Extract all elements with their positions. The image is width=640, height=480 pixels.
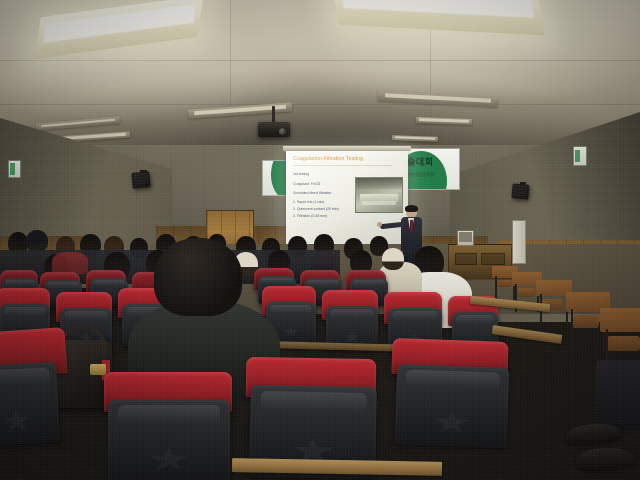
- audience-head-black-cap: [26, 230, 48, 252]
- whiteboard-panel: [512, 220, 526, 264]
- attendee-trousers: [596, 360, 640, 430]
- seat-back: [108, 400, 230, 480]
- audience-head-beige-cap: [382, 248, 404, 270]
- projection-screen: Coagulation-Filtration Testing Jar testi…: [286, 151, 408, 245]
- ceiling-seam: [0, 104, 640, 105]
- presentation-slide: Coagulation-Filtration Testing Jar testi…: [286, 151, 408, 245]
- projector-mount: [272, 106, 275, 123]
- seat-back: [395, 364, 510, 448]
- banner-korean-subtext: 대한환경공학회: [408, 172, 434, 178]
- audience-shoulders: [52, 252, 88, 274]
- lecture-hall-photo: 술대회 대한환경공학회 Coagulation-Filtration Testi…: [0, 0, 640, 480]
- attendee-shoe: [575, 446, 636, 472]
- exit-sign-left: [8, 160, 21, 178]
- wall-speaker-left: [131, 171, 151, 189]
- podium-monitor: [457, 230, 474, 246]
- ceiling-seam: [230, 0, 231, 152]
- slide-title-rule: [293, 165, 392, 166]
- slide-numbered-item: 3. Filtration (0.45 mm): [293, 213, 401, 220]
- banner-korean-text: 술대회: [407, 155, 433, 168]
- seat-back: [0, 362, 60, 446]
- slide-title: Coagulation-Filtration Testing: [293, 157, 401, 163]
- projector: [258, 122, 290, 137]
- wall-speaker-right: [511, 183, 529, 199]
- banner-right: 술대회 대한환경공학회: [404, 148, 460, 190]
- exit-sign-right: [573, 146, 587, 166]
- ceiling-seam: [0, 60, 640, 61]
